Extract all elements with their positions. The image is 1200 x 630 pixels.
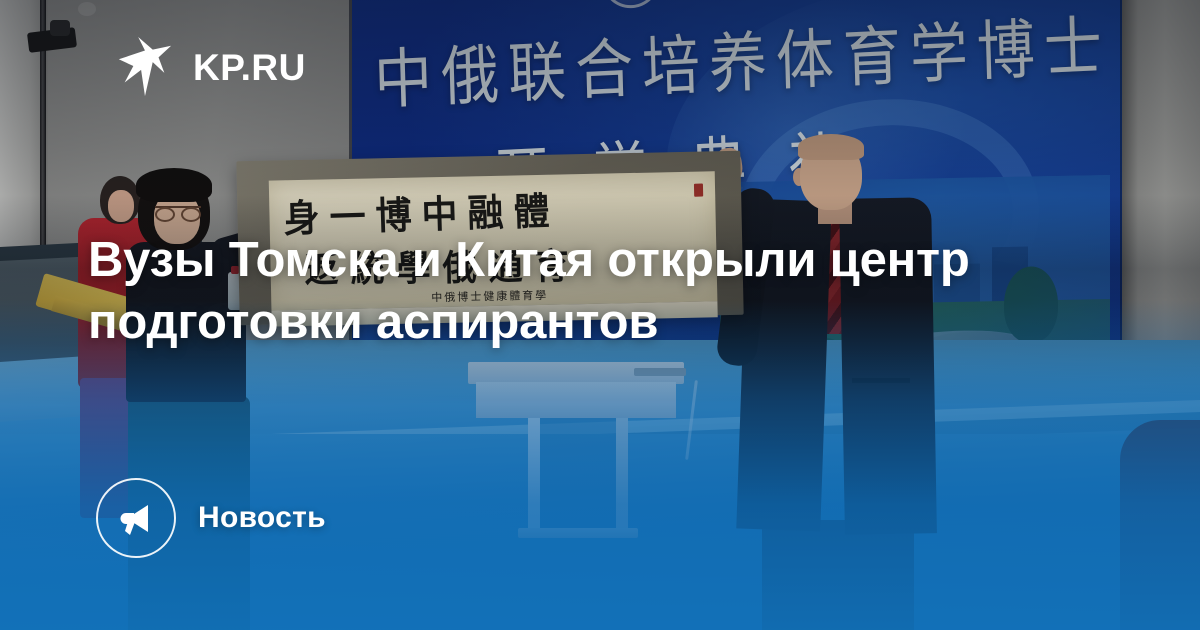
status-badge[interactable]: Новость	[96, 478, 326, 558]
page-title: Вузы Томска и Китая открыли центр подгот…	[88, 230, 1108, 353]
brand-name: KP.RU	[193, 49, 306, 86]
status-badge-label: Новость	[198, 501, 326, 535]
news-share-card: ⚘ 1892 ◎ TOMSK·1878 中俄联合培养体育学博士 开学典礼 йск…	[0, 0, 1200, 630]
megaphone-icon	[96, 478, 176, 558]
swallow-bird-icon	[113, 34, 175, 100]
brand-logo[interactable]: KP.RU	[113, 34, 306, 100]
